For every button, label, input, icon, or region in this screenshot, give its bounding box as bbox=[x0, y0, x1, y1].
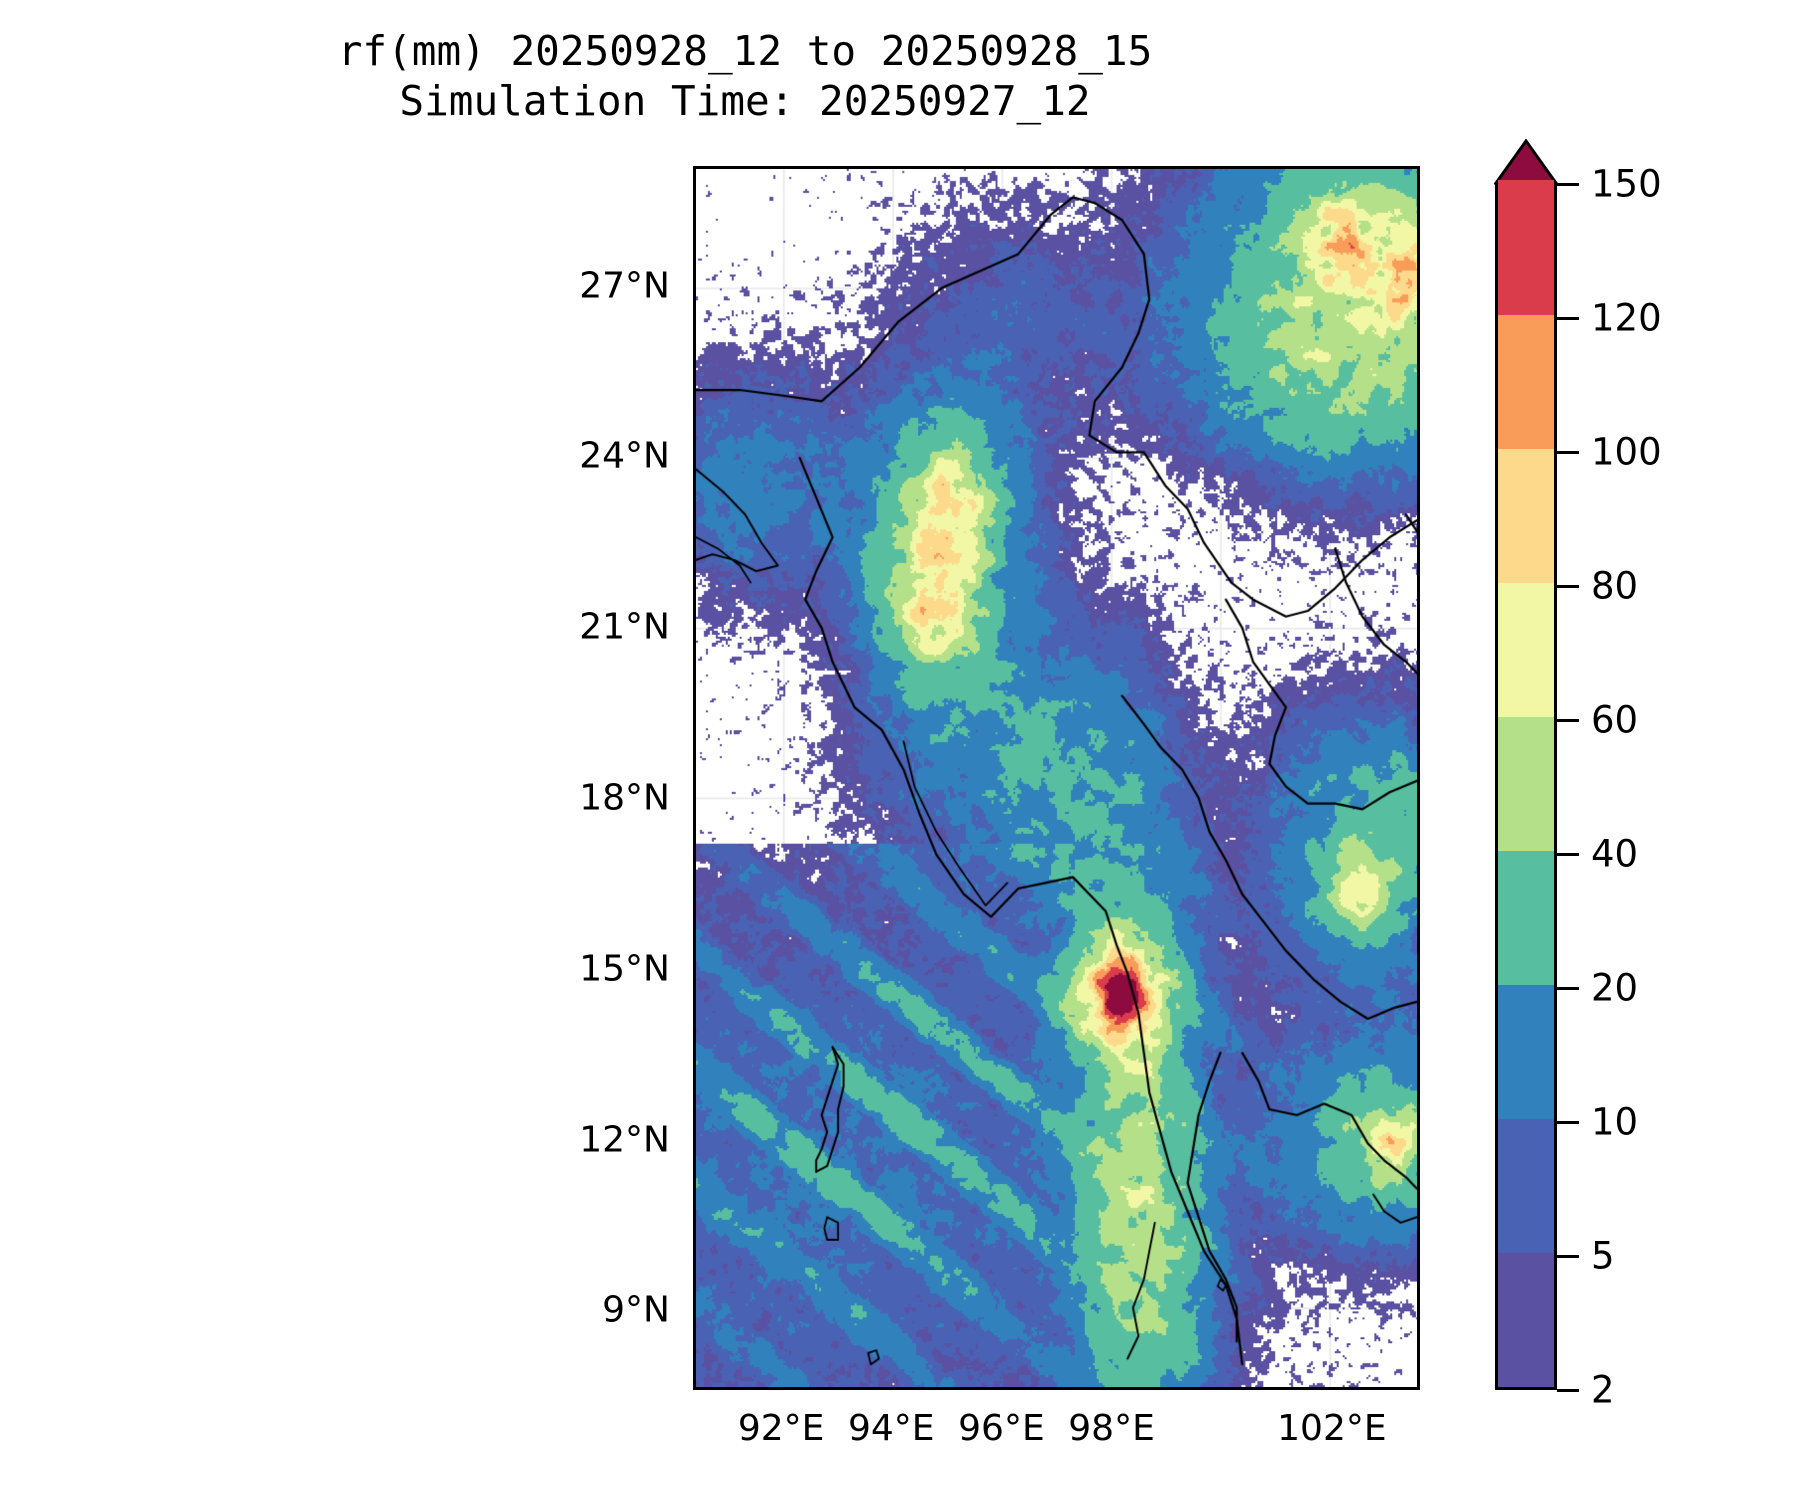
title-line-secondary: Simulation Time: 20250927_12 bbox=[0, 76, 1490, 126]
colorbar-tick-mark bbox=[1557, 719, 1579, 722]
colorbar-tick-mark bbox=[1557, 1121, 1579, 1124]
xtick-label: 96°E bbox=[958, 1408, 1045, 1449]
colorbar-band bbox=[1498, 314, 1554, 449]
colorbar-tick-label: 80 bbox=[1591, 565, 1638, 608]
colorbar-band bbox=[1498, 448, 1554, 583]
ytick-label: 21°N bbox=[579, 607, 670, 648]
rainfall-map-axes[interactable] bbox=[693, 166, 1420, 1390]
colorbar-tick-mark bbox=[1557, 1389, 1579, 1392]
colorbar-band bbox=[1498, 716, 1554, 851]
ytick-label: 12°N bbox=[579, 1119, 670, 1160]
colorbar-tick-label: 150 bbox=[1591, 163, 1662, 206]
colorbar-band bbox=[1498, 984, 1554, 1119]
colorbar-tick-label: 10 bbox=[1591, 1101, 1638, 1144]
colorbar-tick-label: 120 bbox=[1591, 297, 1662, 340]
colorbar-tick-label: 60 bbox=[1591, 699, 1638, 742]
title-line-primary: rf(mm) 20250928_12 to 20250928_15 bbox=[0, 26, 1490, 76]
colorbar[interactable]: 150120100806040201052 bbox=[1495, 140, 1795, 1400]
xtick-label: 102°E bbox=[1277, 1408, 1386, 1449]
ytick-label: 24°N bbox=[579, 436, 670, 477]
colorbar-tick-label: 5 bbox=[1591, 1235, 1615, 1278]
colorbar-gradient bbox=[1495, 184, 1557, 1390]
colorbar-tick-label: 20 bbox=[1591, 967, 1638, 1010]
ytick-label: 27°N bbox=[579, 265, 670, 306]
xtick-label: 92°E bbox=[738, 1408, 825, 1449]
ytick-label: 15°N bbox=[579, 948, 670, 989]
colorbar-band bbox=[1498, 180, 1554, 315]
colorbar-tick-label: 40 bbox=[1591, 833, 1638, 876]
ytick-label: 9°N bbox=[602, 1290, 670, 1331]
colorbar-band bbox=[1498, 850, 1554, 985]
colorbar-tick-mark bbox=[1557, 317, 1579, 320]
colorbar-band bbox=[1498, 1118, 1554, 1253]
colorbar-tick-mark bbox=[1557, 853, 1579, 856]
xtick-label: 94°E bbox=[848, 1408, 935, 1449]
colorbar-band bbox=[1498, 1252, 1554, 1387]
colorbar-tick-mark bbox=[1557, 183, 1579, 186]
colorbar-tick-mark bbox=[1557, 1255, 1579, 1258]
rainfall-contour-canvas bbox=[696, 169, 1417, 1387]
colorbar-tick-label: 100 bbox=[1591, 431, 1662, 474]
figure-title: rf(mm) 20250928_12 to 20250928_15 Simula… bbox=[0, 26, 1490, 126]
colorbar-tick-mark bbox=[1557, 585, 1579, 588]
colorbar-extend-arrow bbox=[1494, 139, 1558, 185]
colorbar-band bbox=[1498, 582, 1554, 717]
colorbar-tick-mark bbox=[1557, 451, 1579, 454]
colorbar-tick-mark bbox=[1557, 987, 1579, 990]
colorbar-tick-label: 2 bbox=[1591, 1369, 1615, 1412]
xtick-label: 98°E bbox=[1068, 1408, 1155, 1449]
ytick-label: 18°N bbox=[579, 777, 670, 818]
